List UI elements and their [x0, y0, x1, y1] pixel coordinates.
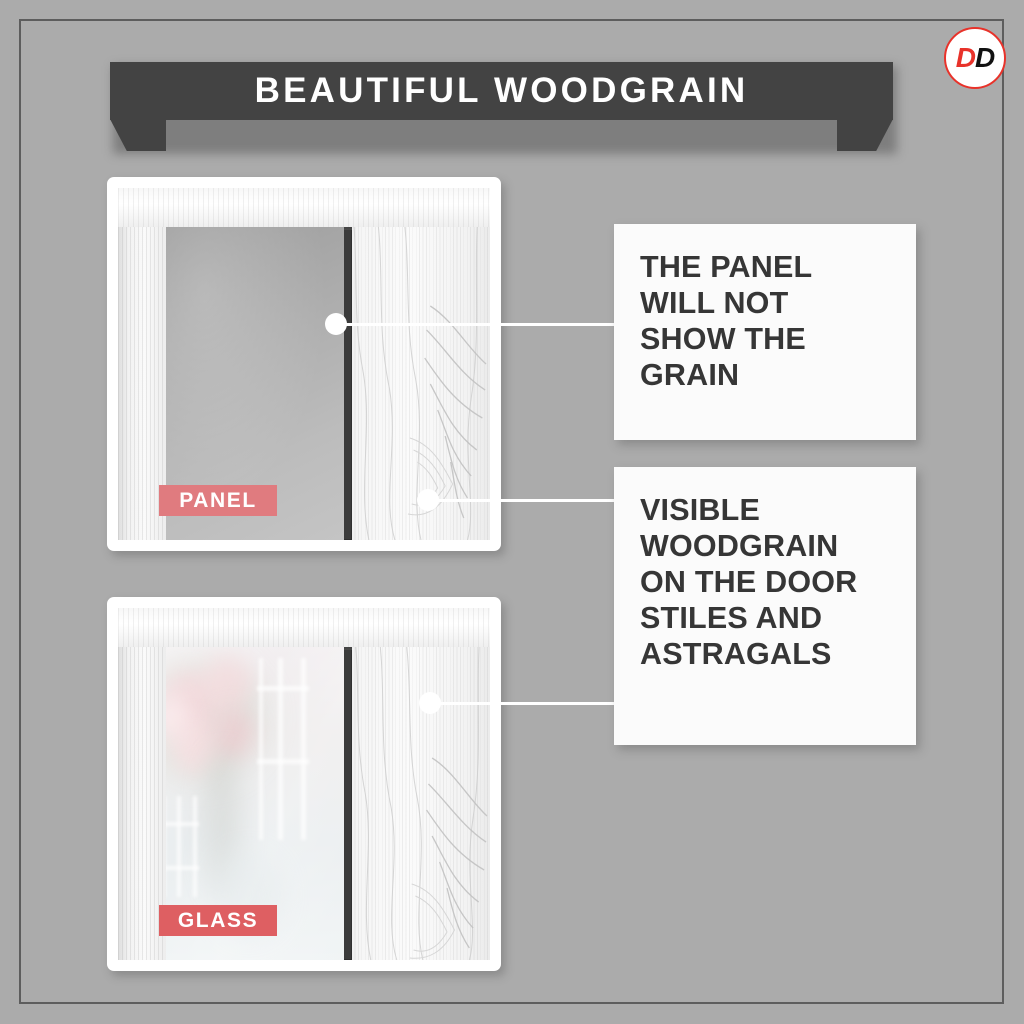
panel-badge: PANEL	[159, 485, 277, 516]
callout-line: ASTRAGALS	[640, 637, 892, 673]
brand-logo[interactable]: DD	[944, 27, 1006, 89]
leader-line-stile-lower	[430, 702, 616, 705]
upper-door-stile	[341, 188, 490, 540]
upper-door-top-rail	[118, 188, 490, 227]
leader-dot-panel	[325, 313, 347, 335]
callout-line: THE PANEL	[640, 250, 892, 286]
callout-line: STILES AND	[640, 601, 892, 637]
callout-line: WOODGRAIN	[640, 529, 892, 565]
leader-line-stile-upper	[428, 499, 616, 502]
lower-door-top-rail	[118, 608, 490, 647]
callout-line: VISIBLE	[640, 493, 892, 529]
panel-callout-box: THE PANEL WILL NOT SHOW THE GRAIN	[614, 224, 916, 440]
callout-line: WILL NOT	[640, 286, 892, 322]
glass-badge: GLASS	[159, 905, 277, 936]
page-title: BEAUTIFUL WOODGRAIN	[110, 62, 893, 120]
callout-line: ON THE DOOR	[640, 565, 892, 601]
infographic-canvas: BEAUTIFUL WOODGRAIN DD	[0, 0, 1024, 1024]
callout-line: SHOW THE	[640, 322, 892, 358]
logo-letter-second: D	[975, 42, 994, 73]
leader-dot-stile-lower	[419, 692, 441, 714]
logo-letter-first: D	[956, 42, 975, 73]
header-ribbon: BEAUTIFUL WOODGRAIN	[0, 0, 1024, 170]
woodgrain-texture-icon	[341, 188, 490, 540]
leader-dot-stile-upper	[417, 489, 439, 511]
leader-line-panel	[336, 323, 616, 326]
callout-line: GRAIN	[640, 358, 892, 394]
woodgrain-callout-box: VISIBLE WOODGRAIN ON THE DOOR STILES AND…	[614, 467, 916, 745]
lower-door-stile	[341, 608, 490, 960]
logo-letters: DD	[956, 44, 994, 72]
woodgrain-texture-icon	[341, 608, 490, 960]
